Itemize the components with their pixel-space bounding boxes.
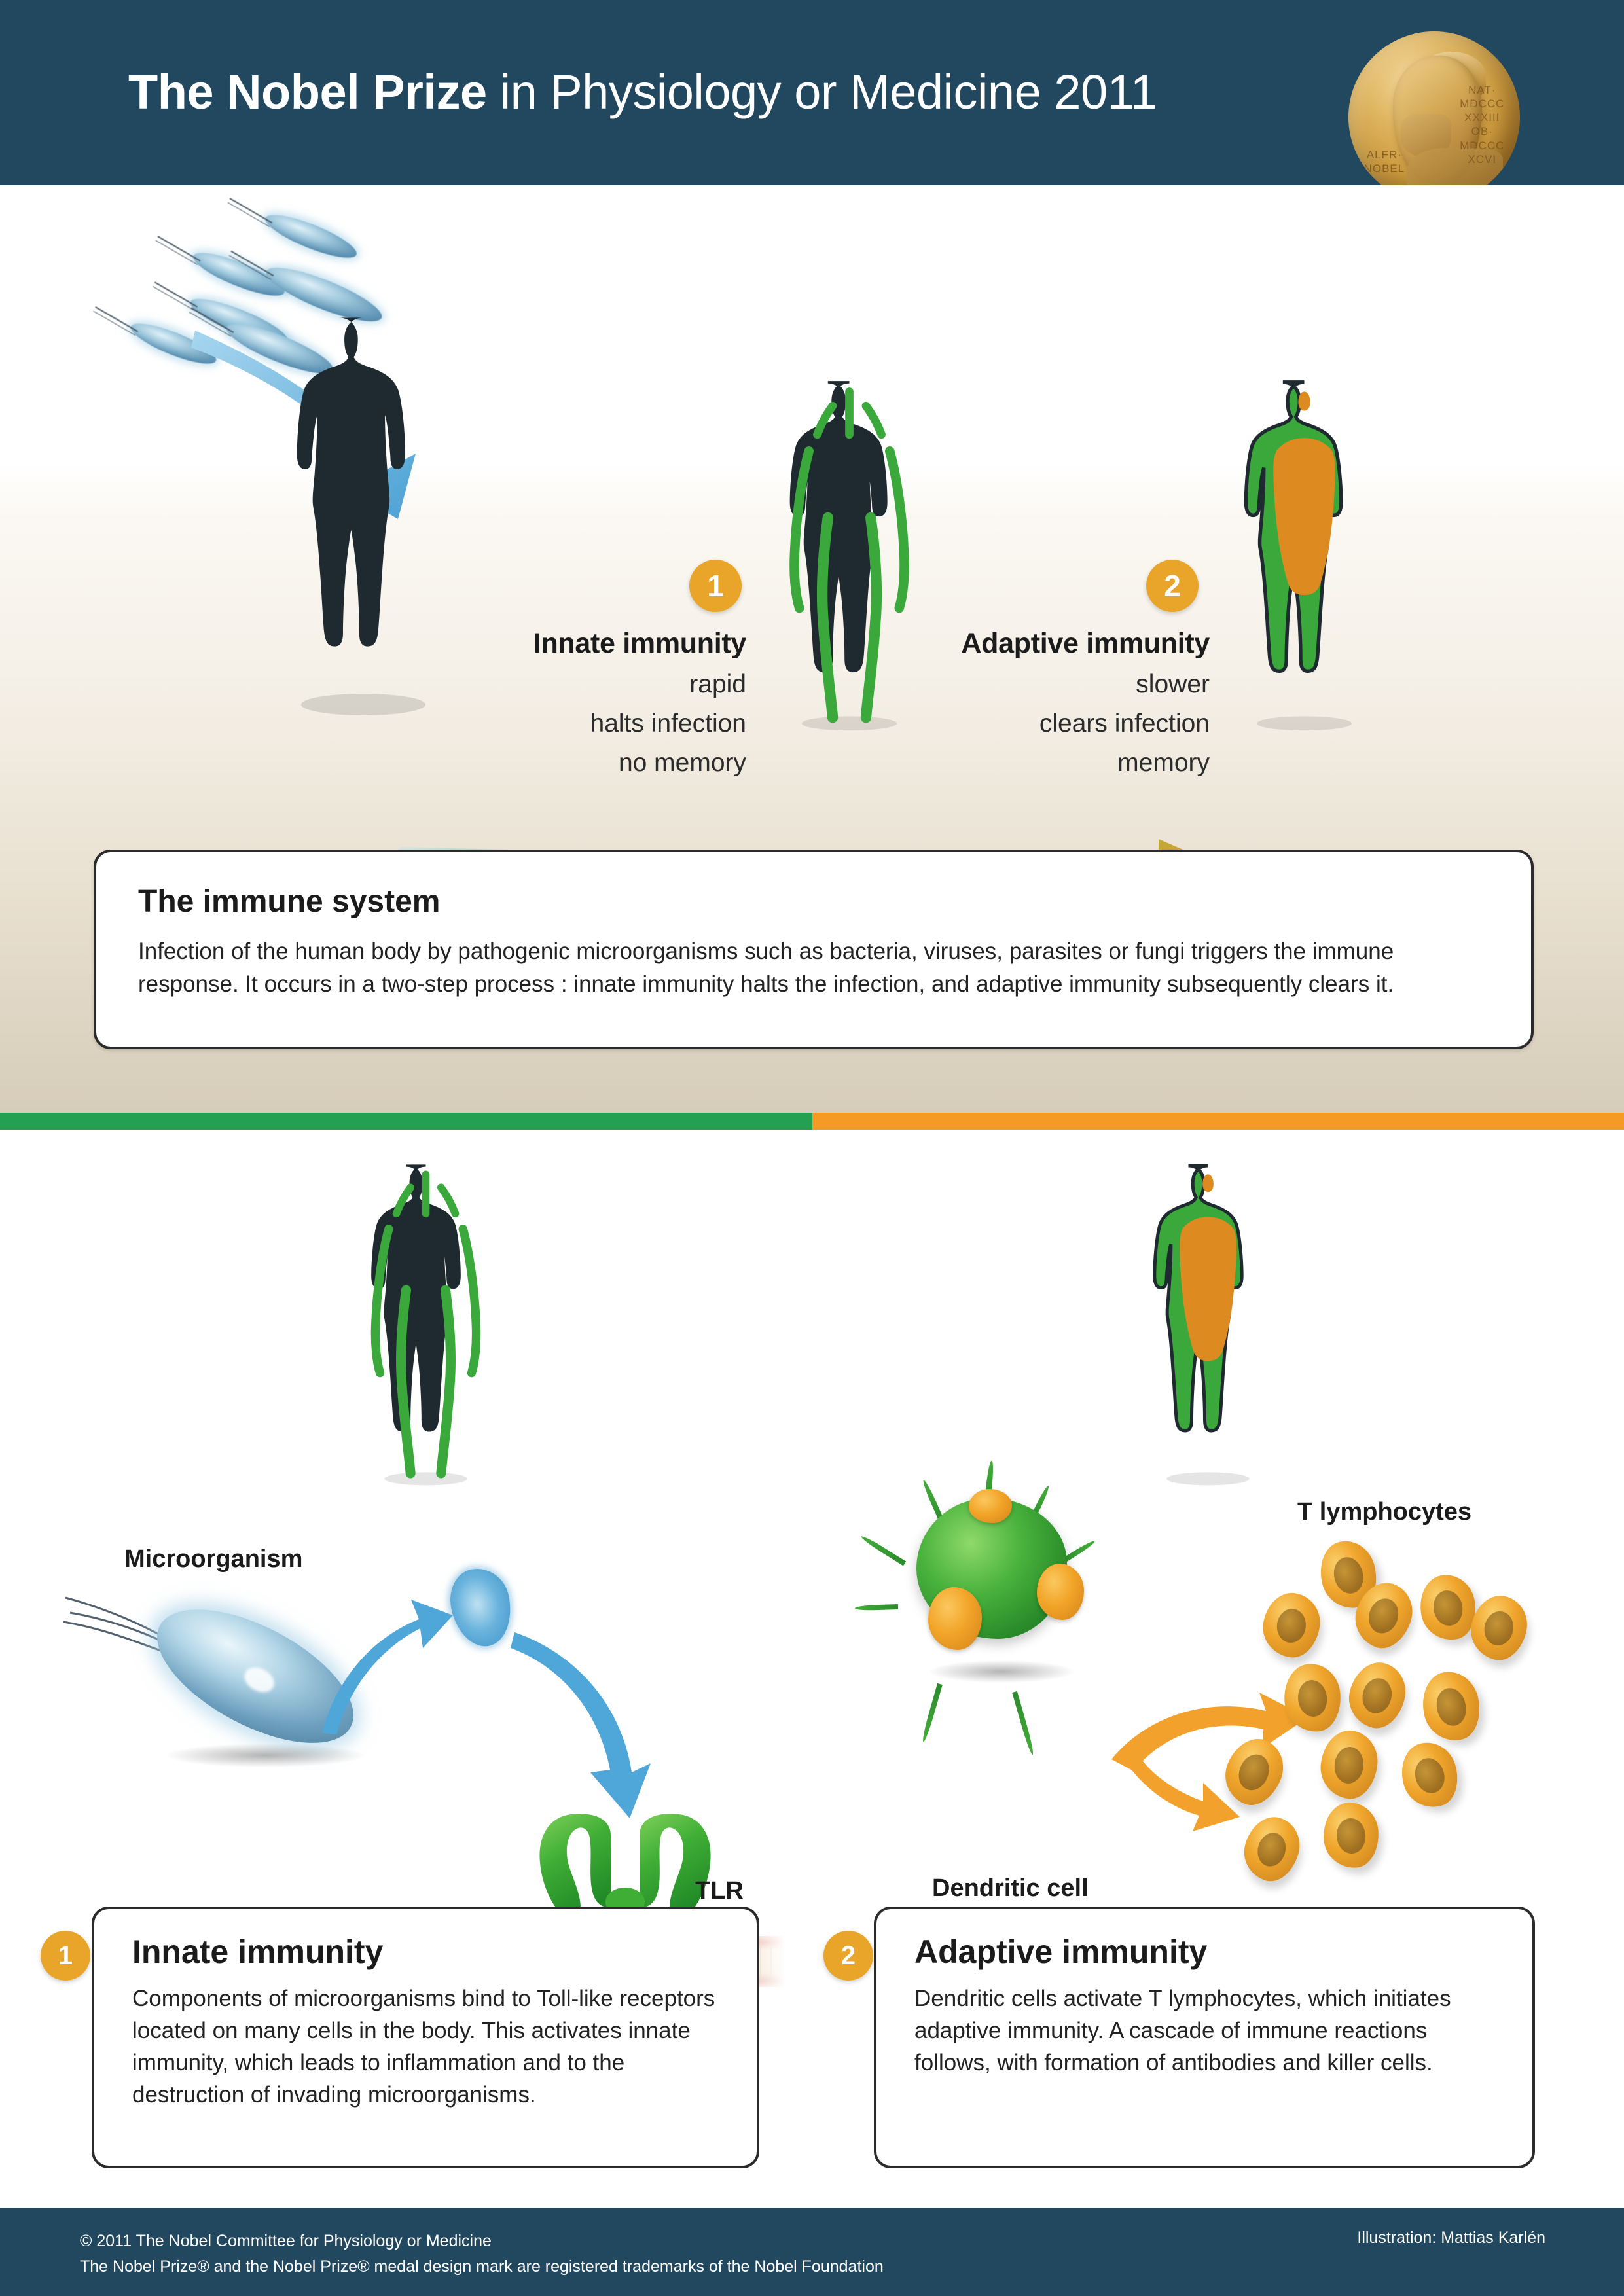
adaptive-immunity-title: Adaptive immunity bbox=[897, 628, 1210, 660]
step-2-badge: 2 bbox=[1146, 560, 1199, 612]
footer-copyright-line-2: The Nobel Prize® and the Nobel Prize® me… bbox=[80, 2254, 884, 2280]
panel-1-badge: 1 bbox=[41, 1931, 90, 1981]
adaptive-immunity-person-figure bbox=[1227, 375, 1381, 732]
t-lymphocyte-cell bbox=[1216, 1731, 1292, 1813]
innate-detail-person-figure bbox=[355, 1159, 496, 1486]
tlr-label: TLR bbox=[695, 1877, 744, 1905]
dendritic-cell-label: Dendritic cell bbox=[932, 1874, 1089, 1903]
adaptive-immunity-line-1: slower bbox=[897, 670, 1210, 699]
t-lymphocyte-cell bbox=[1322, 1801, 1381, 1870]
overview-diagram-section: 1 Innate immunity rapid halts infection … bbox=[0, 185, 1624, 1115]
page-title-bold: The Nobel Prize bbox=[128, 65, 487, 119]
immune-system-card-title: The immune system bbox=[138, 884, 1531, 920]
nobel-medal-icon: NAT· MDCCC XXXIII OB· MDCCC XCVI ALFR· N… bbox=[1348, 31, 1520, 203]
panel-2-badge: 2 bbox=[823, 1931, 873, 1981]
section-divider bbox=[0, 1113, 1624, 1130]
page-title: The Nobel Prize in Physiology or Medicin… bbox=[128, 64, 1157, 120]
t-lymphocyte-cell bbox=[1318, 1728, 1380, 1801]
divider-orange-half bbox=[812, 1113, 1624, 1130]
adaptive-immunity-line-2: clears infection bbox=[897, 709, 1210, 738]
innate-immunity-panel-body: Components of microorganisms bind to Tol… bbox=[132, 1982, 719, 2111]
page-title-light: in Physiology or Medicine 2011 bbox=[487, 65, 1157, 119]
t-lymphocyte-cell bbox=[1259, 1589, 1324, 1660]
panel-1-number: 1 bbox=[58, 1941, 73, 1970]
divider-green-half bbox=[0, 1113, 812, 1130]
innate-immunity-panel: Innate immunity Components of microorgan… bbox=[92, 1907, 759, 2168]
t-lymphocyte-cell bbox=[1466, 1590, 1533, 1664]
medal-engraving-left: ALFR· NOBEL bbox=[1364, 149, 1405, 175]
adaptive-detail-person-figure bbox=[1138, 1159, 1278, 1486]
adaptive-immunity-panel: Adaptive immunity Dendritic cells activa… bbox=[874, 1907, 1535, 2168]
release-arrow-icon bbox=[308, 1588, 458, 1742]
innate-immunity-line-2: halts infection bbox=[432, 709, 746, 738]
page-footer: © 2011 The Nobel Committee for Physiolog… bbox=[0, 2208, 1624, 2296]
t-lymphocyte-cell bbox=[1416, 1666, 1486, 1746]
page-header: The Nobel Prize in Physiology or Medicin… bbox=[0, 0, 1624, 185]
detail-diagram-section: Microorganism bbox=[0, 1130, 1624, 2208]
footer-illustration-credit: Illustration: Mattias Karlén bbox=[1357, 2229, 1545, 2248]
step-2-number: 2 bbox=[1164, 569, 1181, 603]
adaptive-immunity-panel-title: Adaptive immunity bbox=[914, 1933, 1532, 1971]
t-lymphocyte-cell bbox=[1343, 1657, 1412, 1733]
immune-system-info-card: The immune system Infection of the human… bbox=[94, 850, 1534, 1049]
t-lymphocyte-cell bbox=[1281, 1661, 1344, 1734]
innate-immunity-title: Innate immunity bbox=[432, 628, 746, 660]
adaptive-immunity-panel-body: Dendritic cells activate T lymphocytes, … bbox=[914, 1982, 1494, 2079]
adaptive-immunity-label-block: Adaptive immunity slower clears infectio… bbox=[897, 628, 1210, 778]
innate-immunity-label-block: Innate immunity rapid halts infection no… bbox=[432, 628, 746, 778]
panel-2-number: 2 bbox=[841, 1941, 856, 1970]
innate-immunity-line-3: no memory bbox=[432, 749, 746, 778]
step-1-badge: 1 bbox=[689, 560, 742, 612]
footer-copyright: © 2011 The Nobel Committee for Physiolog… bbox=[80, 2229, 884, 2280]
t-lymphocyte-cluster bbox=[1211, 1522, 1591, 1889]
infected-person-figure bbox=[275, 310, 452, 715]
immune-system-card-body: Infection of the human body by pathogeni… bbox=[138, 935, 1475, 1000]
footer-copyright-line-1: © 2011 The Nobel Committee for Physiolog… bbox=[80, 2229, 884, 2254]
innate-immunity-line-1: rapid bbox=[432, 670, 746, 699]
dendritic-cell-icon bbox=[890, 1472, 1113, 1688]
microorganism-label: Microorganism bbox=[124, 1545, 302, 1573]
t-lymphocyte-cell bbox=[1394, 1736, 1465, 1814]
medal-engraving-right: NAT· MDCCC XXXIII OB· MDCCC XCVI bbox=[1460, 83, 1504, 167]
t-lymphocyte-cell bbox=[1237, 1811, 1307, 1888]
adaptive-immunity-line-3: memory bbox=[897, 749, 1210, 778]
step-1-number: 1 bbox=[707, 569, 724, 603]
innate-immunity-panel-title: Innate immunity bbox=[132, 1933, 757, 1971]
